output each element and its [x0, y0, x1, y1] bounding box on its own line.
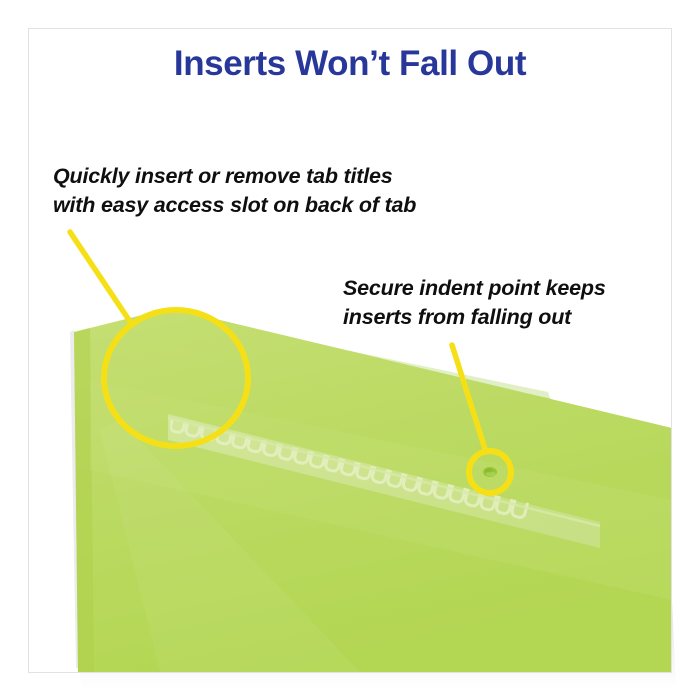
secure-indent-point	[483, 467, 497, 477]
product-feature-image: Inserts Won’t Fall Out Quickly insert or…	[0, 0, 700, 700]
callout-label-indent-point: Secure indent point keeps inserts from f…	[343, 274, 606, 332]
callout-leader-access-slot	[70, 232, 129, 320]
product-photo	[0, 0, 700, 700]
callout-label-access-slot-line1: Quickly insert or remove tab titles	[53, 164, 393, 188]
callout-label-access-slot-line2: with easy access slot on back of tab	[53, 191, 416, 220]
page-title: Inserts Won’t Fall Out	[0, 44, 700, 84]
callout-label-indent-point-line2: inserts from falling out	[343, 303, 606, 332]
callout-label-access-slot: Quickly insert or remove tab titles with…	[53, 162, 416, 220]
callout-label-indent-point-line1: Secure indent point keeps	[343, 276, 606, 300]
